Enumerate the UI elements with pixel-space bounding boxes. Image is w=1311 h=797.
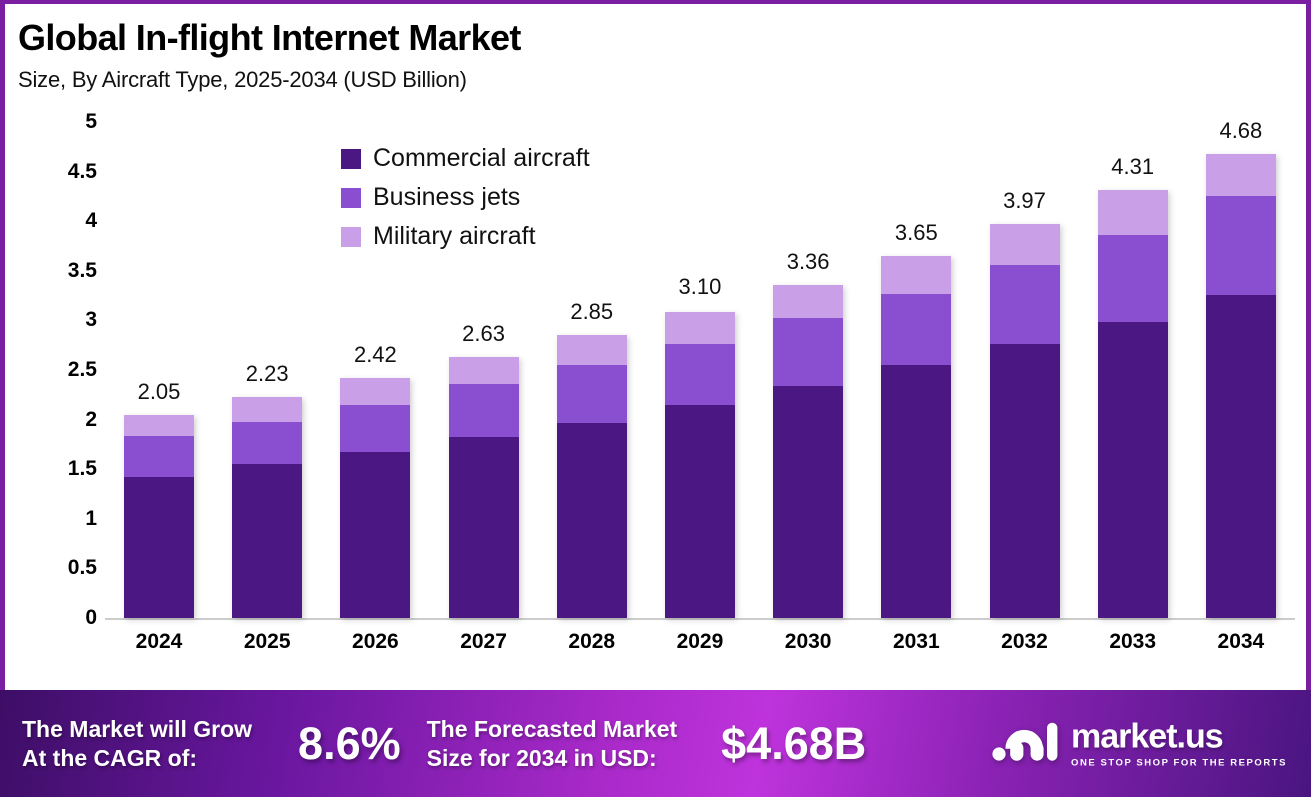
legend-label: Military aircraft	[373, 222, 536, 251]
stacked-bar[interactable]	[665, 310, 735, 618]
y-axis-tick: 4.5	[27, 160, 97, 184]
x-axis-tick: 2029	[646, 630, 754, 654]
stacked-bar[interactable]	[773, 285, 843, 618]
legend-item[interactable]: Military aircraft	[341, 222, 590, 251]
x-axis-line	[105, 618, 1295, 620]
bar-total-label: 2.23	[246, 361, 289, 387]
bar-segment-business-jets[interactable]	[773, 318, 843, 385]
bar-segment-military-aircraft[interactable]	[557, 335, 627, 365]
legend-item[interactable]: Commercial aircraft	[341, 144, 590, 173]
page-subtitle: Size, By Aircraft Type, 2025-2034 (USD B…	[18, 67, 1288, 93]
bar-segment-business-jets[interactable]	[1098, 235, 1168, 322]
legend-swatch-icon	[341, 188, 361, 208]
x-axis-tick: 2031	[862, 630, 970, 654]
bar-segment-military-aircraft[interactable]	[449, 357, 519, 384]
bar-group: 2.052.232.422.632.853.103.363.653.974.31…	[105, 122, 1295, 618]
chart-legend: Commercial aircraftBusiness jetsMilitary…	[341, 144, 590, 251]
stacked-bar[interactable]	[232, 397, 302, 618]
bar-total-label: 3.97	[1003, 188, 1046, 214]
x-axis-tick: 2034	[1187, 630, 1295, 654]
bar-total-label: 4.31	[1111, 154, 1154, 180]
x-axis-tick: 2024	[105, 630, 213, 654]
cagr-value: 8.6%	[298, 718, 401, 770]
bar-segment-business-jets[interactable]	[557, 365, 627, 423]
bar-segment-military-aircraft[interactable]	[124, 415, 194, 437]
x-axis-tick: 2026	[321, 630, 429, 654]
bar-total-label: 2.05	[138, 379, 181, 405]
y-axis-tick: 1.5	[27, 457, 97, 481]
bar-segment-business-jets[interactable]	[340, 405, 410, 453]
page-title: Global In-flight Internet Market	[18, 18, 1288, 58]
bar-segment-military-aircraft[interactable]	[990, 224, 1060, 265]
y-axis-tick: 5	[27, 110, 97, 134]
bar-column[interactable]: 3.36	[754, 122, 862, 618]
stacked-bar[interactable]	[449, 357, 519, 618]
bar-total-label: 3.36	[787, 249, 830, 275]
bar-segment-commercial-aircraft[interactable]	[557, 423, 627, 618]
x-axis-tick: 2027	[430, 630, 538, 654]
y-axis-tick: 0	[27, 606, 97, 630]
market-us-logo[interactable]: market.us ONE STOP SHOP FOR THE REPORTS	[992, 719, 1287, 768]
bar-segment-commercial-aircraft[interactable]	[1098, 322, 1168, 618]
bar-segment-business-jets[interactable]	[1206, 196, 1276, 294]
x-axis-tick: 2030	[754, 630, 862, 654]
bar-segment-business-jets[interactable]	[232, 422, 302, 465]
bar-segment-military-aircraft[interactable]	[881, 256, 951, 294]
stacked-bar[interactable]	[340, 378, 410, 618]
y-axis-tick: 3	[27, 308, 97, 332]
forecast-value: $4.68B	[721, 718, 866, 770]
logo-wordmark: market.us	[1071, 719, 1287, 753]
y-axis-tick: 2	[27, 408, 97, 432]
bar-total-label: 3.65	[895, 220, 938, 246]
x-axis-tick: 2025	[213, 630, 321, 654]
market-us-logo-icon	[992, 720, 1058, 767]
bar-segment-military-aircraft[interactable]	[665, 312, 735, 345]
y-axis-tick: 1	[27, 507, 97, 531]
stacked-bar[interactable]	[1206, 154, 1276, 618]
bar-column[interactable]: 2.05	[105, 122, 213, 618]
stacked-bar[interactable]	[124, 415, 194, 618]
bar-segment-commercial-aircraft[interactable]	[449, 437, 519, 618]
bar-segment-commercial-aircraft[interactable]	[773, 386, 843, 618]
legend-swatch-icon	[341, 149, 361, 169]
forecast-caption: The Forecasted Market Size for 2034 in U…	[427, 715, 678, 771]
bar-segment-military-aircraft[interactable]	[340, 378, 410, 405]
y-axis-tick: 0.5	[27, 556, 97, 580]
bar-segment-commercial-aircraft[interactable]	[232, 464, 302, 618]
bar-column[interactable]: 4.31	[1079, 122, 1187, 618]
legend-item[interactable]: Business jets	[341, 183, 590, 212]
bar-segment-business-jets[interactable]	[881, 294, 951, 365]
bar-total-label: 2.85	[570, 299, 613, 325]
cagr-caption: The Market will Grow At the CAGR of:	[22, 715, 252, 771]
bar-segment-business-jets[interactable]	[665, 344, 735, 405]
bar-column[interactable]: 3.10	[646, 122, 754, 618]
bar-column[interactable]: 4.68	[1187, 122, 1295, 618]
bar-segment-military-aircraft[interactable]	[1206, 154, 1276, 197]
stacked-bar[interactable]	[557, 335, 627, 618]
forecast-caption-line2: Size for 2034 in USD:	[427, 744, 678, 772]
bar-column[interactable]: 3.97	[971, 122, 1079, 618]
forecast-caption-line1: The Forecasted Market	[427, 715, 678, 743]
bottom-banner: The Market will Grow At the CAGR of: 8.6…	[0, 690, 1311, 797]
stacked-bar[interactable]	[881, 256, 951, 618]
bar-segment-military-aircraft[interactable]	[1098, 190, 1168, 235]
cagr-caption-line2: At the CAGR of:	[22, 744, 252, 772]
x-axis-tick: 2033	[1079, 630, 1187, 654]
y-axis-tick: 2.5	[27, 358, 97, 382]
bar-column[interactable]: 3.65	[862, 122, 970, 618]
bar-segment-commercial-aircraft[interactable]	[665, 405, 735, 618]
bar-segment-military-aircraft[interactable]	[773, 285, 843, 319]
chart-plot-area: 54.543.532.521.510.50 2.052.232.422.632.…	[5, 122, 1306, 692]
x-axis: 2024202520262027202820292030203120322033…	[105, 630, 1295, 654]
bar-segment-commercial-aircraft[interactable]	[881, 365, 951, 618]
bar-segment-commercial-aircraft[interactable]	[1206, 295, 1276, 618]
bar-segment-business-jets[interactable]	[124, 436, 194, 477]
stacked-bar[interactable]	[990, 224, 1060, 618]
y-axis: 54.543.532.521.510.50	[27, 122, 97, 692]
legend-label: Commercial aircraft	[373, 144, 590, 173]
y-axis-tick: 3.5	[27, 259, 97, 283]
bar-total-label: 2.63	[462, 321, 505, 347]
logo-text: market.us ONE STOP SHOP FOR THE REPORTS	[1071, 719, 1287, 768]
header: Global In-flight Internet Market Size, B…	[18, 18, 1288, 93]
y-axis-tick: 4	[27, 209, 97, 233]
bar-total-label: 4.68	[1219, 118, 1262, 144]
bar-segment-military-aircraft[interactable]	[232, 397, 302, 422]
bar-total-label: 3.10	[679, 274, 722, 300]
legend-swatch-icon	[341, 227, 361, 247]
bar-segment-business-jets[interactable]	[449, 384, 519, 438]
stacked-bar[interactable]	[1098, 190, 1168, 618]
bar-column[interactable]: 2.23	[213, 122, 321, 618]
legend-label: Business jets	[373, 183, 520, 212]
x-axis-tick: 2028	[538, 630, 646, 654]
bar-segment-commercial-aircraft[interactable]	[340, 452, 410, 618]
bar-segment-commercial-aircraft[interactable]	[990, 344, 1060, 618]
bar-segment-business-jets[interactable]	[990, 265, 1060, 344]
bar-total-label: 2.42	[354, 342, 397, 368]
x-axis-tick: 2032	[971, 630, 1079, 654]
infographic-page: Global In-flight Internet Market Size, B…	[0, 0, 1311, 797]
bar-segment-commercial-aircraft[interactable]	[124, 477, 194, 618]
cagr-caption-line1: The Market will Grow	[22, 715, 252, 743]
logo-tagline: ONE STOP SHOP FOR THE REPORTS	[1071, 757, 1287, 768]
